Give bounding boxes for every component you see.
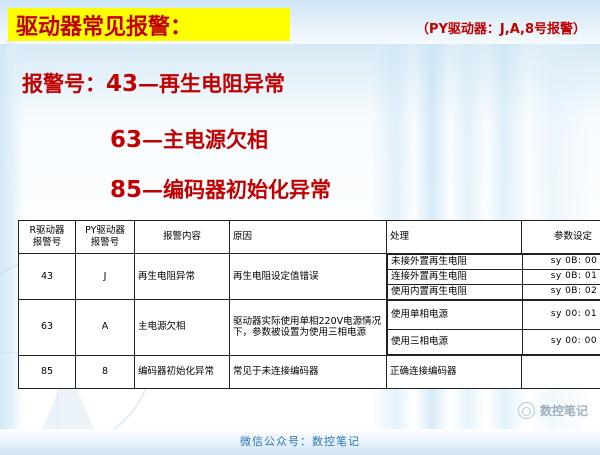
header-py-alarm-no-line2: 报警号 [79, 237, 131, 249]
alarm-number-63: 63 [110, 127, 142, 153]
watermark-label: 数控笔记 [540, 402, 588, 419]
watermark: 数控笔记 [518, 402, 588, 419]
alarm-name-2: 主电源欠相 [163, 127, 268, 152]
header-r-alarm-no-line1: R驱动器 [22, 225, 72, 237]
treatment-subrow: 使用三相电源 sy 00: 00 [388, 329, 600, 354]
alarm-number-85: 85 [110, 177, 142, 203]
alarm-summary-line-3: 85—编码器初始化异常 [110, 174, 331, 204]
cell-treatment-action: 正确连接编码器 [387, 355, 522, 388]
cell-content: 再生电阻异常 [135, 254, 230, 300]
alarm-dash-3: — [142, 177, 163, 202]
alarm-table: R驱动器 报警号 PY驱动器 报警号 报警内容 原因 处理 参数设定 43 J [18, 220, 600, 389]
page-title-highlight: 驱动器常见报警： [8, 8, 290, 41]
cell-treatment-param [522, 355, 600, 388]
table-row: 85 8 编码器初始化异常 常见于未连接编码器 正确连接编码器 [19, 355, 600, 388]
treatment-subrow: 未接外置再生电阻 sy 0B: 00 [388, 255, 600, 270]
treatment-subrow: 使用单相电源 sy 00: 01 [388, 300, 600, 329]
footer-text: 微信公众号：数控笔记 [0, 433, 600, 449]
cell-treatment-action: 使用内置再生电阻 [388, 284, 523, 299]
header-py-alarm-no-line1: PY驱动器 [79, 225, 131, 237]
cell-reason: 驱动器实际使用单相220V电源情况下，参数被设置为使用三相电源 [230, 300, 387, 356]
cell-treatment-param: sy 00: 01 [523, 300, 600, 329]
cell-treatment-param: sy 00: 00 [523, 329, 600, 354]
cell-treatment-param: sy 0B: 00 [523, 255, 600, 270]
header-r-alarm-no-line2: 报警号 [22, 237, 72, 249]
cell-r-no: 43 [19, 254, 76, 300]
alarm-name-1: 再生电阻异常 [159, 71, 285, 96]
cell-py-no: A [76, 300, 135, 356]
alarm-summary-line-2: 63—主电源欠相 [110, 124, 268, 154]
cell-reason: 常见于未连接编码器 [230, 355, 387, 388]
cell-treatment-group: 使用单相电源 sy 00: 01 使用三相电源 sy 00: 00 [387, 300, 600, 356]
alarm-summary-line-1: 报警号：43—再生电阻异常 [22, 68, 285, 98]
treatment-subtable: 未接外置再生电阻 sy 0B: 00 连接外置再生电阻 sy 0B: 01 使用… [387, 254, 600, 300]
alarm-name-3: 编码器初始化异常 [163, 177, 331, 202]
table-header-row: R驱动器 报警号 PY驱动器 报警号 报警内容 原因 处理 参数设定 [19, 221, 600, 254]
treatment-subtable: 使用单相电源 sy 00: 01 使用三相电源 sy 00: 00 [387, 300, 600, 355]
cell-treatment-action: 未接外置再生电阻 [388, 255, 523, 270]
page-title: 驱动器常见报警： [8, 9, 192, 41]
cell-reason: 再生电阻设定值错误 [230, 254, 387, 300]
alarm-number-43: 43 [106, 71, 138, 97]
cell-treatment-action: 使用三相电源 [388, 329, 523, 354]
header-r-alarm-no: R驱动器 报警号 [19, 221, 76, 254]
alarm-table-wrapper: R驱动器 报警号 PY驱动器 报警号 报警内容 原因 处理 参数设定 43 J [18, 220, 584, 389]
cell-treatment-action: 使用单相电源 [388, 300, 523, 329]
background-left-rail [7, 40, 18, 430]
cell-py-no: J [76, 254, 135, 300]
cell-content: 主电源欠相 [135, 300, 230, 356]
treatment-subrow: 连接外置再生电阻 sy 0B: 01 [388, 269, 600, 284]
wechat-logo-icon [518, 402, 535, 419]
table-row: 43 J 再生电阻异常 再生电阻设定值错误 未接外置再生电阻 sy 0B: 00 [19, 254, 600, 300]
alarm-label-prefix: 报警号： [22, 71, 106, 96]
cell-py-no: 8 [76, 355, 135, 388]
header-parameter: 参数设定 [522, 221, 600, 254]
cell-r-no: 63 [19, 300, 76, 356]
cell-treatment-param: sy 0B: 01 [523, 269, 600, 284]
treatment-subrow: 使用内置再生电阻 sy 0B: 02 [388, 284, 600, 299]
cell-treatment-action: 连接外置再生电阻 [388, 269, 523, 284]
cell-r-no: 85 [19, 355, 76, 388]
table-row: 63 A 主电源欠相 驱动器实际使用单相220V电源情况下，参数被设置为使用三相… [19, 300, 600, 356]
cell-treatment-param: sy 0B: 02 [523, 284, 600, 299]
header-reason: 原因 [230, 221, 387, 254]
slide-canvas: 驱动器常见报警： （PY驱动器：J,A,8号报警） 报警号：43—再生电阻异常 … [0, 0, 600, 455]
alarm-dash-2: — [142, 127, 163, 152]
cell-content: 编码器初始化异常 [135, 355, 230, 388]
header-py-alarm-no: PY驱动器 报警号 [76, 221, 135, 254]
alarm-dash-1: — [138, 71, 159, 96]
cell-treatment-group: 未接外置再生电阻 sy 0B: 00 连接外置再生电阻 sy 0B: 01 使用… [387, 254, 600, 300]
title-note: （PY驱动器：J,A,8号报警） [416, 18, 586, 37]
header-treatment: 处理 [387, 221, 522, 254]
header-content: 报警内容 [135, 221, 230, 254]
